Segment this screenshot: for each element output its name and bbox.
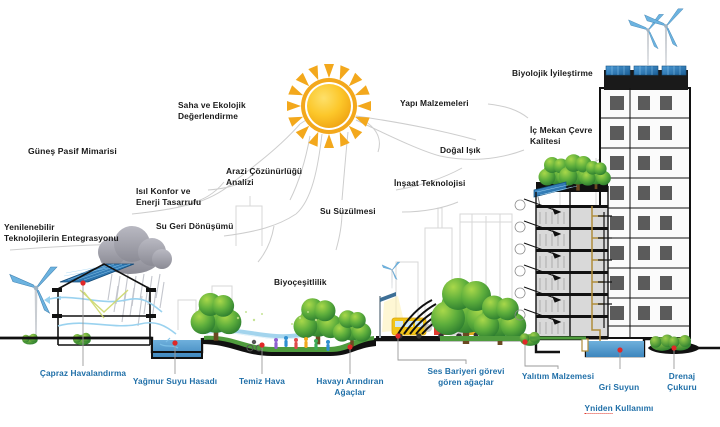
- infographic-canvas: Güneş Pasif Mimarisi Yenilenebilir Tekno…: [0, 0, 720, 427]
- label-drenaj-cukuru: Drenaj Çukuru: [663, 371, 701, 392]
- daylight-path: [80, 290, 128, 318]
- label-biyocesitlilik: Biyoçeşitlilik: [274, 277, 327, 288]
- label-yagmur-suyu-hasadi: Yağmur Suyu Hasadı: [133, 376, 217, 387]
- label-yapi-malzemeleri: Yapı Malzemeleri: [400, 98, 469, 109]
- marker-yalitim: [522, 339, 527, 344]
- label-arazi-cozunurlugu: Arazi Çözünürlüğü Analizi: [226, 166, 302, 187]
- airflow-arrows: [46, 296, 176, 334]
- label-gri-suyun-yeniden-kullanimi: Gri Suyun Yniden Kullanımı: [585, 371, 654, 413]
- label-insaat-teknolojisi: İnşaat Teknolojisi: [394, 178, 465, 189]
- green-building-section: [515, 154, 612, 348]
- greywater-tank: [586, 341, 644, 357]
- wind-turbine-roof-b: [645, 9, 684, 66]
- building-floors: [536, 186, 608, 339]
- label-gunes-pasif-mimarisi: Güneş Pasif Mimarisi: [28, 146, 117, 157]
- label-capraz-havalandirma: Çapraz Havalandırma: [40, 368, 126, 379]
- marker-capraz-havalandirma: [80, 280, 85, 285]
- marker-yagmur-suyu: [172, 340, 177, 345]
- marker-ses-bariyeri: [395, 333, 400, 338]
- label-biyolojik-iyilestirme: Biyolojik İyileştirme: [512, 68, 593, 79]
- label-ic-mekan-cevre: İç Mekan Çevre Kalitesi: [530, 125, 592, 146]
- label-dogal-isik: Doğal Işık: [440, 145, 481, 156]
- label-temiz-hava: Temiz Hava: [239, 376, 285, 387]
- label-saha-ve-ekolojik: Saha ve Ekolojik Değerlendirme: [178, 100, 246, 121]
- spellcheck-misspelled-word: Yniden: [585, 403, 613, 414]
- label-yalitim-malzemesi: Yalıtım Malzemesi: [522, 371, 594, 382]
- gri-suyun-line1: Gri Suyun: [599, 382, 640, 392]
- label-su-suzulmesi: Su Süzülmesi: [320, 206, 376, 217]
- marker-temiz-hava: [259, 342, 264, 347]
- gri-suyun-line2-rest: Kullanımı: [613, 403, 654, 413]
- marker-drenaj: [671, 345, 676, 350]
- label-havayi-arindiran: Havayı Arındıran Ağaçlar: [316, 376, 383, 397]
- label-su-geri-donusumu: Su Geri Dönüşümü: [156, 221, 233, 232]
- label-ses-bariyeri: Ses Bariyeri görevi gören ağaçlar: [427, 366, 504, 387]
- label-yenilenebilir-teknolojiler: Yenilenebilir Teknolojilerin Entegrasyon…: [4, 222, 119, 243]
- solar-panel-roof: [606, 66, 686, 75]
- wind-turbine-mid: [382, 262, 400, 288]
- sun-icon: [287, 64, 371, 148]
- label-isil-konfor: Isıl Konfor ve Enerji Tasarrufu: [136, 186, 201, 207]
- marker-gri-su: [617, 347, 622, 352]
- apartment-tower: [600, 9, 690, 338]
- marker-havayi-arindiran: [347, 344, 352, 349]
